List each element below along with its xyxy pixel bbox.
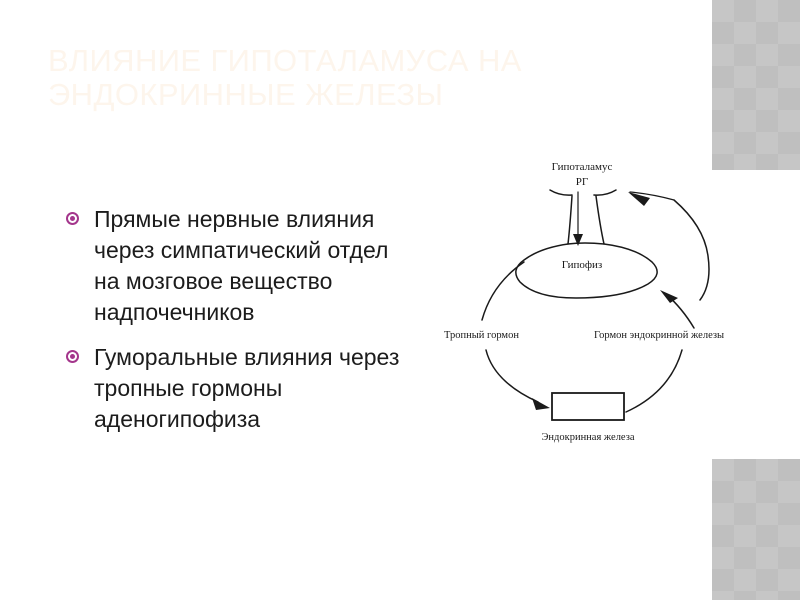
pituitary-stalk-right [596, 196, 604, 244]
endocrine-regulation-diagram: Гипоталамус РГ Гипофиз Тропный гормон Эн… [432, 150, 744, 460]
tropic-hormone-curve-lower [486, 350, 538, 402]
bullet-ring-icon [66, 212, 79, 225]
diagram-label-rg: РГ [576, 176, 588, 188]
slide: Влияние гипоталамуса на эндокринные желе… [0, 0, 800, 600]
argyle-pattern-top-right [712, 0, 800, 170]
list-item-label: Гуморальные влияния через тропные гормон… [94, 342, 416, 435]
tropic-hormone-curve-upper [482, 262, 524, 320]
pituitary-stalk-left [568, 196, 572, 244]
tropic-hormone-arrow-head [532, 398, 550, 410]
page-title: Влияние гипоталамуса на эндокринные желе… [48, 44, 688, 112]
bullet-list: Прямые нервные влияния через симпатическ… [66, 204, 416, 449]
endocrine-gland-box [552, 393, 624, 420]
diagram-label-hypothalamus: Гипоталамус [552, 161, 613, 173]
feedback-to-pituitary-arrow-head [660, 290, 678, 303]
diagram-label-tropic-hormone: Тропный гормон [444, 330, 519, 341]
diagram-label-pituitary: Гипофиз [562, 259, 603, 271]
bullet-ring-icon [66, 350, 79, 363]
list-item: Прямые нервные влияния через симпатическ… [66, 204, 416, 328]
hypothalamus-outline-left [550, 190, 572, 195]
list-item-label: Прямые нервные влияния через симпатическ… [94, 204, 416, 328]
gland-hormone-curve-lower [626, 350, 682, 412]
list-item: Гуморальные влияния через тропные гормон… [66, 342, 416, 435]
hypothalamus-outline-right [594, 190, 616, 195]
rg-arrow-head [573, 234, 583, 246]
diagram-label-gland-hormone: Гормон эндокринной железы [594, 330, 724, 341]
feedback-to-hypothalamus-curve [674, 200, 709, 300]
argyle-pattern-bottom-right [712, 459, 800, 600]
diagram-label-endocrine-gland: Эндокринная железа [541, 432, 634, 443]
